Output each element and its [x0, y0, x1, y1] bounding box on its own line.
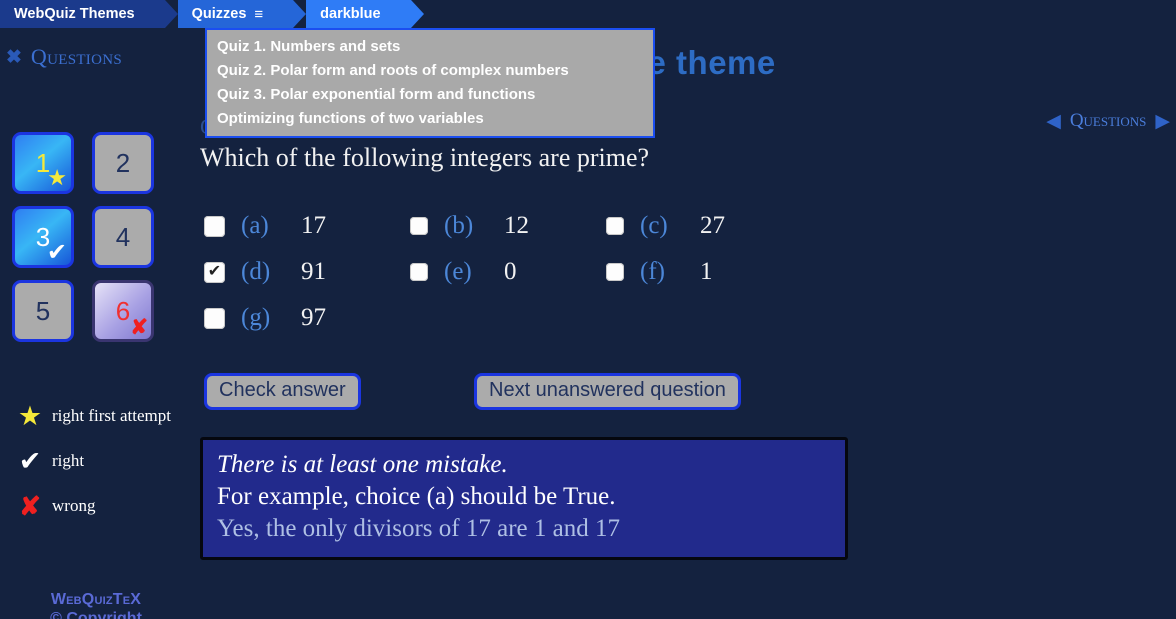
question-button-2[interactable]: 2	[92, 132, 154, 194]
prev-arrow-icon[interactable]: ◀	[1046, 112, 1061, 131]
check-icon: ✔	[8, 448, 52, 475]
question-button-6[interactable]: 6 ✘	[92, 280, 154, 342]
answer-key-c: (c)	[640, 212, 686, 240]
dropdown-item-optimizing[interactable]: Optimizing functions of two variables	[207, 107, 653, 131]
legend-row-right-first: ★ right first attempt	[8, 403, 188, 430]
answer-value-f: 1	[700, 258, 713, 286]
copyright-product: WebQuizTeX	[0, 590, 192, 609]
sidebar: ✖ Questions 1 ★ 2 3 ✔ 4 5 6 ✘	[0, 28, 192, 619]
answer-option-e[interactable]: (e) 0	[410, 249, 606, 295]
answer-option-d[interactable]: ✔ (d) 91	[204, 249, 410, 295]
question-button-grid: 1 ★ 2 3 ✔ 4 5 6 ✘	[12, 132, 172, 342]
checkbox-d[interactable]: ✔	[204, 262, 225, 283]
check-answer-button[interactable]: Check answer	[204, 373, 361, 410]
breadcrumb-filler	[411, 0, 1176, 28]
checkbox-a[interactable]	[204, 216, 225, 237]
star-icon: ★	[8, 403, 52, 430]
breadcrumb-label-darkblue: darkblue	[320, 6, 380, 22]
question-button-4-number: 4	[116, 222, 130, 253]
feedback-line-3: Yes, the only divisors of 17 are 1 and 1…	[217, 513, 831, 545]
question-text: Which of the following integers are prim…	[200, 143, 649, 173]
breadcrumb-item-quizzes[interactable]: Quizzes ≡	[178, 0, 294, 28]
answer-key-f: (f)	[640, 258, 686, 286]
checkbox-b[interactable]	[410, 217, 428, 235]
breadcrumb: WebQuiz Themes Quizzes ≡ darkblue	[0, 0, 1176, 28]
legend: ★ right first attempt ✔ right ✘ wrong	[8, 403, 188, 537]
breadcrumb-arrow-2	[411, 0, 424, 28]
answer-key-g: (g)	[241, 304, 287, 332]
quizzes-dropdown-menu[interactable]: Quiz 1. Numbers and sets Quiz 2. Polar f…	[205, 28, 655, 138]
answer-key-b: (b)	[444, 212, 490, 240]
answer-value-g: 97	[301, 304, 326, 332]
dropdown-item-quiz-1[interactable]: Quiz 1. Numbers and sets	[207, 35, 653, 59]
answer-option-c[interactable]: (c) 27	[606, 203, 806, 249]
menu-hamburger-icon[interactable]: ≡	[254, 7, 263, 22]
answer-value-d: 91	[301, 258, 326, 286]
answer-option-g[interactable]: (g) 97	[204, 295, 410, 341]
questions-nav-label[interactable]: Questions	[1070, 110, 1147, 132]
breadcrumb-item-themes[interactable]: WebQuiz Themes	[0, 0, 165, 28]
question-button-4[interactable]: 4	[92, 206, 154, 268]
cross-icon: ✘	[130, 317, 148, 338]
question-button-5[interactable]: 5	[12, 280, 74, 342]
dropdown-item-quiz-3[interactable]: Quiz 3. Polar exponential form and funct…	[207, 83, 653, 107]
feedback-line-2: For example, choice (a) should be True.	[217, 481, 831, 513]
breadcrumb-label-themes: WebQuiz Themes	[14, 6, 135, 22]
question-button-2-number: 2	[116, 148, 130, 179]
copyright-block: WebQuizTeX © Copyright 2004-2019	[0, 590, 192, 619]
breadcrumb-arrow-1	[293, 0, 306, 28]
legend-label-right: right	[52, 448, 84, 471]
answer-option-f[interactable]: (f) 1	[606, 249, 806, 295]
checkbox-c[interactable]	[606, 217, 624, 235]
question-button-5-number: 5	[36, 296, 50, 327]
star-icon: ★	[47, 167, 67, 189]
answer-key-e: (e)	[444, 258, 490, 286]
answer-value-b: 12	[504, 212, 529, 240]
feedback-box: There is at least one mistake. For examp…	[200, 437, 848, 560]
cross-icon: ✘	[8, 493, 52, 519]
next-unanswered-button[interactable]: Next unanswered question	[474, 373, 741, 410]
checkbox-g[interactable]	[204, 308, 225, 329]
answer-option-b[interactable]: (b) 12	[410, 203, 606, 249]
answer-options: (a) 17 (b) 12 (c) 27 ✔ (d) 91 (e) 0	[204, 203, 904, 341]
breadcrumb-item-darkblue[interactable]: darkblue	[306, 0, 410, 28]
answer-key-a: (a)	[241, 212, 287, 240]
sidebar-header: ✖ Questions	[0, 28, 192, 70]
question-button-3[interactable]: 3 ✔	[12, 206, 74, 268]
copyright-line2: © Copyright	[0, 609, 192, 619]
checkbox-f[interactable]	[606, 263, 624, 281]
dropdown-item-quiz-2[interactable]: Quiz 2. Polar form and roots of complex …	[207, 59, 653, 83]
legend-label-wrong: wrong	[52, 493, 95, 516]
quiz-page: WebQuiz Themes Quizzes ≡ darkblue The da…	[0, 0, 1176, 619]
breadcrumb-arrow-0	[165, 0, 178, 28]
answer-key-d: (d)	[241, 258, 287, 286]
legend-row-wrong: ✘ wrong	[8, 493, 188, 519]
answer-value-a: 17	[301, 212, 326, 240]
checkbox-e[interactable]	[410, 263, 428, 281]
answer-value-c: 27	[700, 212, 725, 240]
answer-value-e: 0	[504, 258, 517, 286]
check-icon: ✔	[47, 241, 67, 265]
question-navigation: ◀ Questions ▶	[1046, 110, 1170, 132]
close-icon[interactable]: ✖	[6, 48, 22, 67]
legend-row-right: ✔ right	[8, 448, 188, 475]
next-arrow-icon[interactable]: ▶	[1155, 112, 1170, 131]
answer-option-a[interactable]: (a) 17	[204, 203, 410, 249]
breadcrumb-label-quizzes: Quizzes	[192, 6, 247, 22]
question-button-1[interactable]: 1 ★	[12, 132, 74, 194]
feedback-line-1: There is at least one mistake.	[217, 449, 831, 481]
question-button-6-number: 6	[116, 296, 130, 327]
sidebar-title: Questions	[31, 44, 122, 70]
legend-label-right-first: right first attempt	[52, 403, 171, 426]
